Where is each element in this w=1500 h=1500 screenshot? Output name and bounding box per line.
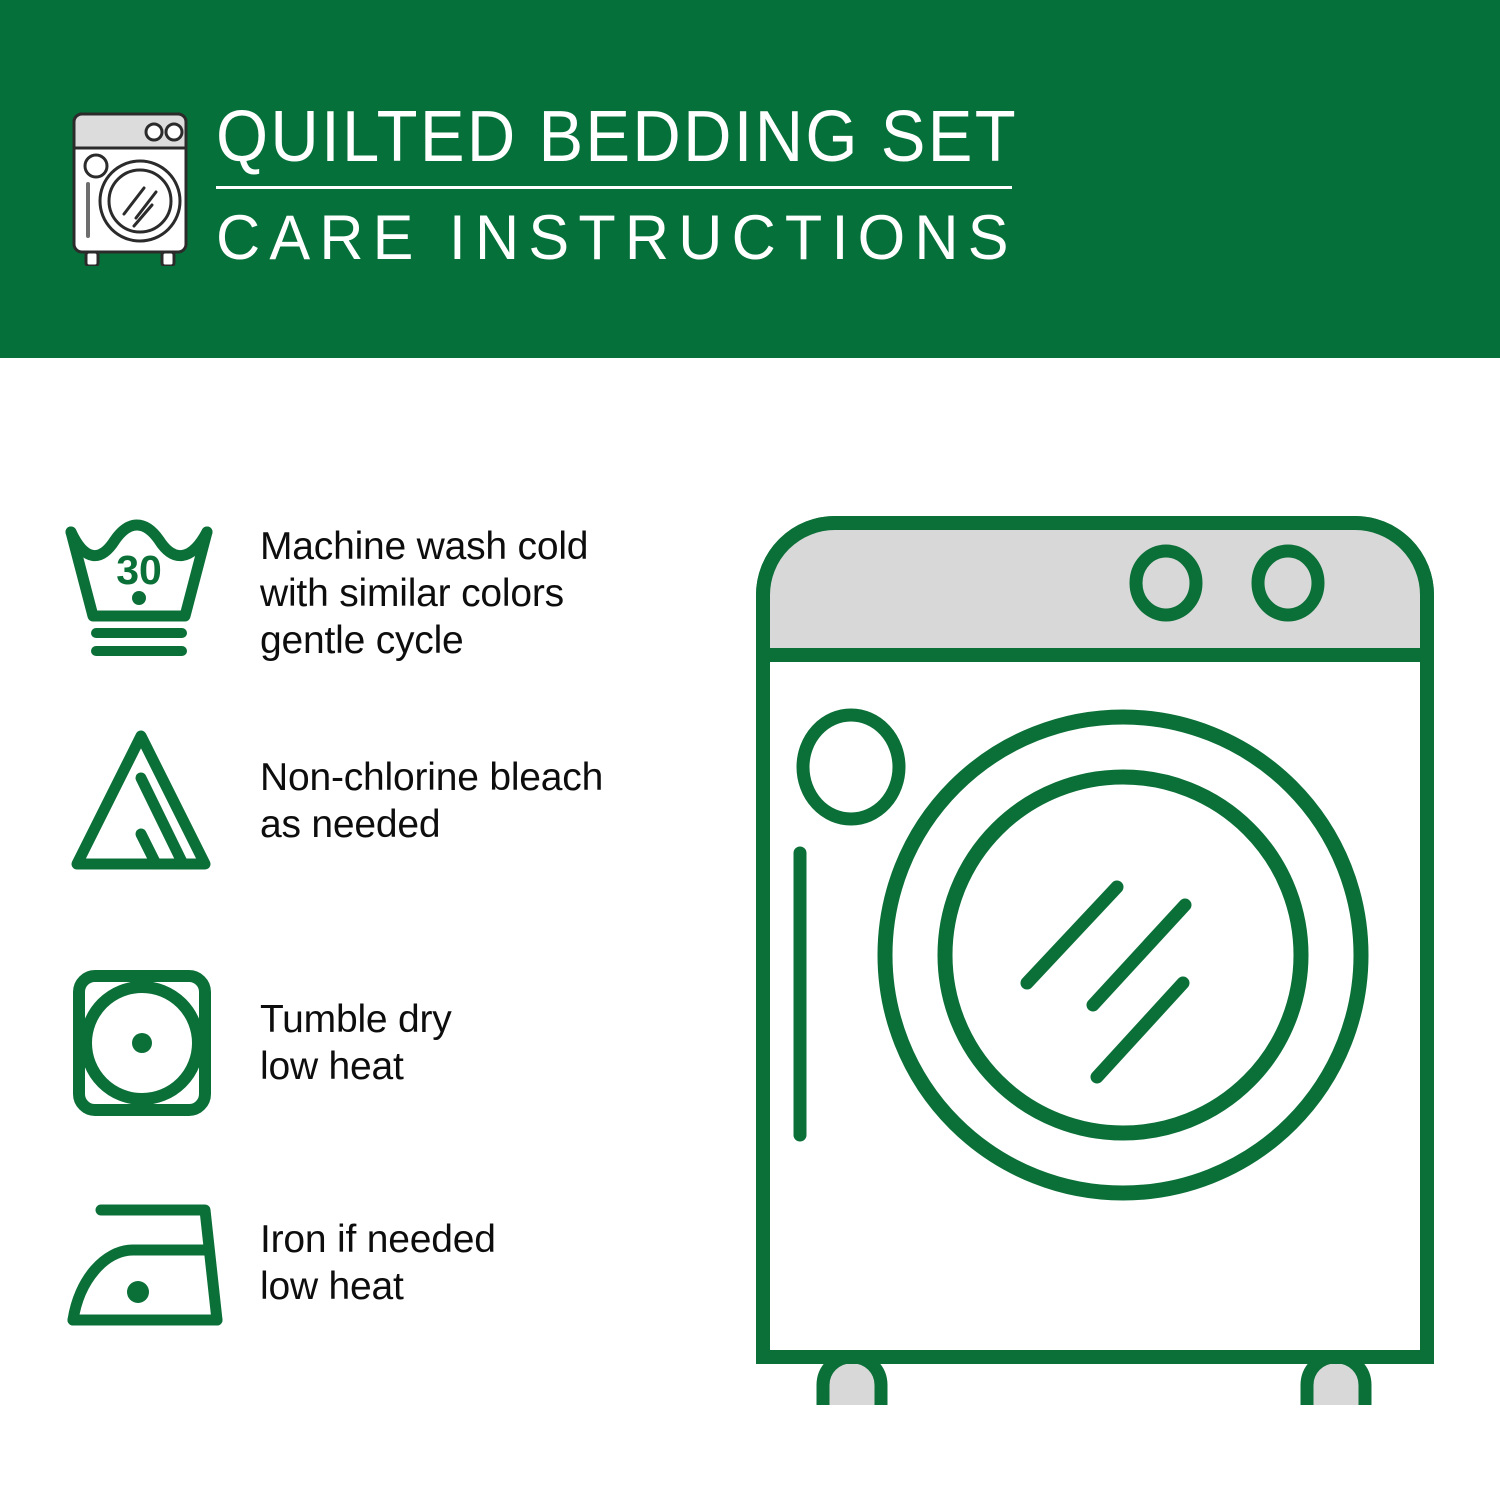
wash-tub-30-icon: 30 bbox=[58, 513, 238, 673]
care-row-bleach: Non-chlorine bleach as needed bbox=[0, 716, 720, 886]
iron-low-heat-icon bbox=[58, 1183, 238, 1343]
washing-machine-icon bbox=[62, 106, 202, 266]
care-line: with similar colors bbox=[260, 570, 588, 617]
care-row-machine-wash: 30 Machine wash cold with similar colors… bbox=[0, 508, 720, 678]
care-instructions-page: QUILTED BEDDING SET CARE INSTRUCTIONS 30 bbox=[0, 0, 1500, 1500]
care-text-tumble-dry: Tumble dry low heat bbox=[260, 996, 452, 1090]
care-instruction-list: 30 Machine wash cold with similar colors… bbox=[0, 358, 720, 1500]
header-divider bbox=[216, 186, 1012, 189]
care-line: as needed bbox=[260, 801, 603, 848]
leg-left bbox=[823, 1357, 881, 1405]
leg-right bbox=[1307, 1357, 1365, 1405]
care-line: Tumble dry bbox=[260, 996, 452, 1043]
care-text-bleach: Non-chlorine bleach as needed bbox=[260, 754, 603, 848]
care-text-machine-wash: Machine wash cold with similar colors ge… bbox=[260, 523, 588, 664]
knob-left bbox=[1136, 551, 1196, 615]
door-inner-ring bbox=[945, 777, 1301, 1133]
page-title: QUILTED BEDDING SET bbox=[216, 98, 960, 176]
care-line: gentle cycle bbox=[260, 617, 588, 664]
washing-machine-illustration bbox=[745, 505, 1445, 1405]
care-text-iron: Iron if needed low heat bbox=[260, 1216, 496, 1310]
wash-temp-label: 30 bbox=[116, 547, 162, 593]
header-text-block: QUILTED BEDDING SET CARE INSTRUCTIONS bbox=[216, 98, 1016, 273]
header-banner: QUILTED BEDDING SET CARE INSTRUCTIONS bbox=[0, 0, 1500, 358]
dispenser-circle bbox=[803, 715, 899, 819]
care-line: low heat bbox=[260, 1043, 452, 1090]
care-line: Iron if needed bbox=[260, 1216, 496, 1263]
care-line: Machine wash cold bbox=[260, 523, 588, 570]
care-row-tumble-dry: Tumble dry low heat bbox=[0, 958, 720, 1128]
care-line: low heat bbox=[260, 1263, 496, 1310]
tumble-dry-low-icon bbox=[58, 963, 238, 1123]
bleach-triangle-icon bbox=[58, 721, 238, 881]
care-line: Non-chlorine bleach bbox=[260, 754, 603, 801]
knob-right bbox=[1258, 551, 1318, 615]
page-subtitle: CARE INSTRUCTIONS bbox=[216, 203, 992, 273]
care-row-iron: Iron if needed low heat bbox=[0, 1178, 720, 1348]
